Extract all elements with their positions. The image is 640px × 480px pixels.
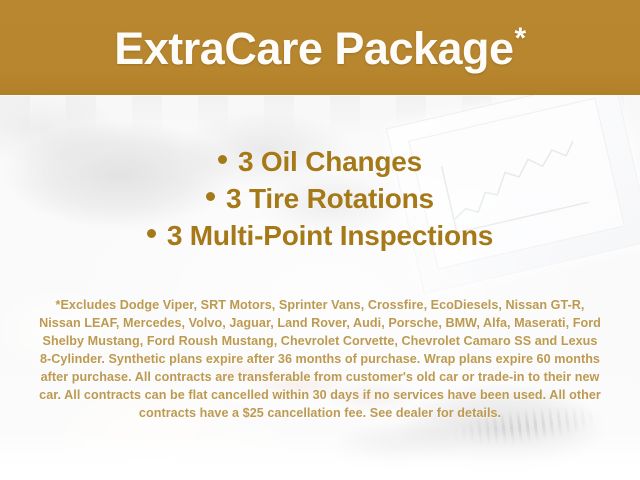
benefits-list: 3 Oil Changes 3 Tire Rotations 3 Multi-P…: [0, 95, 640, 254]
page-title-text: ExtraCare Package: [114, 23, 513, 74]
bullet-icon: [206, 192, 215, 201]
list-item: 3 Tire Rotations: [0, 180, 640, 217]
page-title-asterisk: *: [515, 22, 526, 55]
benefit-label: 3 Tire Rotations: [226, 183, 434, 214]
header-band: ExtraCare Package*: [0, 0, 640, 95]
disclaimer-text: *Excludes Dodge Viper, SRT Motors, Sprin…: [0, 254, 640, 422]
main-content: 3 Oil Changes 3 Tire Rotations 3 Multi-P…: [0, 95, 640, 480]
page-title: ExtraCare Package*: [114, 24, 525, 71]
extracare-package-promo: ExtraCare Package* 3 Oil Changes 3 Tire …: [0, 0, 640, 480]
list-item: 3 Oil Changes: [0, 143, 640, 180]
benefit-label: 3 Oil Changes: [238, 146, 422, 177]
list-item: 3 Multi-Point Inspections: [0, 217, 640, 254]
bullet-icon: [147, 229, 156, 238]
bullet-icon: [218, 155, 227, 164]
benefit-label: 3 Multi-Point Inspections: [167, 220, 493, 251]
